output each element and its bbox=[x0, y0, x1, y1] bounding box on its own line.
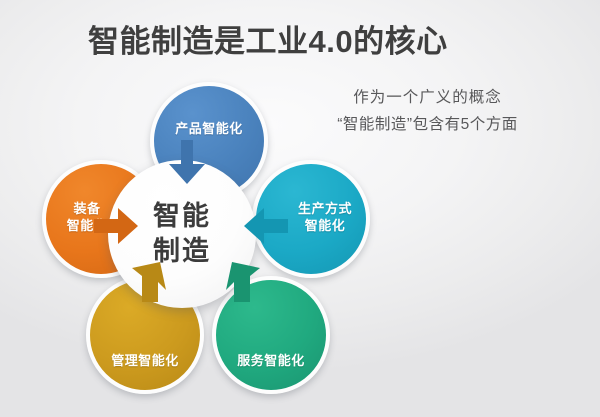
smart-manufacturing-diagram: 产品智能化 生产方式 智能化 服务智能化 管理智能化 装备 智能化 智能 制造 bbox=[30, 78, 390, 403]
petal-production-label: 生产方式 智能化 bbox=[298, 200, 352, 234]
petal-product-label: 产品智能化 bbox=[175, 120, 243, 137]
arrow-up-left-icon bbox=[218, 260, 262, 304]
center-label: 智能 制造 bbox=[153, 199, 211, 268]
arrow-right-icon bbox=[94, 206, 140, 246]
arrow-down-icon bbox=[167, 140, 207, 186]
page-title: 智能制造是工业4.0的核心 bbox=[88, 23, 448, 62]
petal-management-label: 管理智能化 bbox=[111, 352, 179, 369]
petal-service-label: 服务智能化 bbox=[237, 352, 305, 369]
arrow-left-icon bbox=[242, 206, 288, 246]
arrow-up-right-icon bbox=[128, 260, 172, 304]
slide-canvas: 智能制造是工业4.0的核心 作为一个广义的概念 “智能制造”包含有5个方面 产品… bbox=[0, 0, 600, 417]
